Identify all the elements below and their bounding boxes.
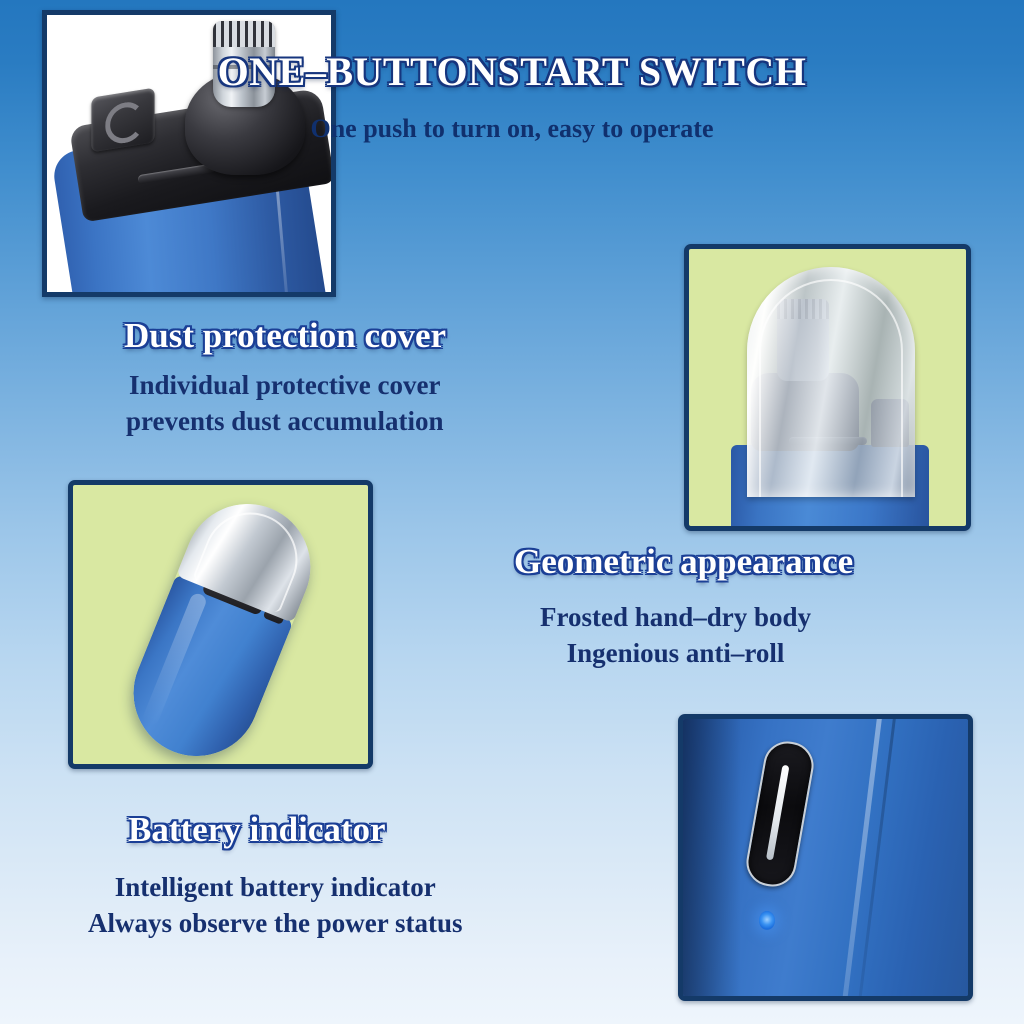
body-highlight — [141, 591, 208, 727]
edge-shadow — [683, 719, 741, 996]
feature-heading-dust-protection-cover: Dust protection cover — [124, 316, 446, 356]
page-title: ONE–BUTTONSTART SWITCH — [0, 48, 1024, 95]
feature-desc-line: Intelligent battery indicator — [88, 870, 462, 906]
feature-desc-line: prevents dust accumulation — [126, 404, 444, 440]
battery-indicator-led — [759, 911, 775, 930]
cap-vent-slot — [137, 163, 215, 184]
dust-cover-highlight — [759, 279, 903, 497]
feature-desc-geometric-appearance: Frosted hand–dry body Ingenious anti–rol… — [540, 600, 811, 672]
transparent-dust-cover — [747, 267, 915, 497]
panel-dust-cap-closeup — [684, 244, 971, 531]
power-button-stripe — [766, 765, 790, 861]
panel-power-button-led-closeup — [678, 714, 973, 1001]
nose-hair-trimmer-device — [115, 485, 330, 764]
feature-desc-battery-indicator: Intelligent battery indicator Always obs… — [88, 870, 462, 942]
feature-desc-dust-protection-cover: Individual protective cover prevents dus… — [126, 368, 444, 440]
power-button-photo — [683, 719, 968, 996]
cutter-teeth — [213, 21, 275, 47]
feature-desc-line: Ingenious anti–roll — [540, 636, 811, 672]
panel-full-device-angled — [68, 480, 373, 769]
feature-desc-line: Individual protective cover — [126, 368, 444, 404]
feature-desc-line: Always observe the power status — [88, 906, 462, 942]
full-device-photo — [73, 485, 368, 764]
page-subtitle: One push to turn on, easy to operate — [0, 114, 1024, 144]
feature-desc-line: Frosted hand–dry body — [540, 600, 811, 636]
feature-heading-battery-indicator: Battery indicator — [128, 810, 386, 850]
dust-cap-photo — [689, 249, 966, 526]
product-infographic: ONE–BUTTONSTART SWITCH One push to turn … — [0, 0, 1024, 1024]
feature-heading-geometric-appearance: Geometric appearance — [514, 542, 853, 582]
